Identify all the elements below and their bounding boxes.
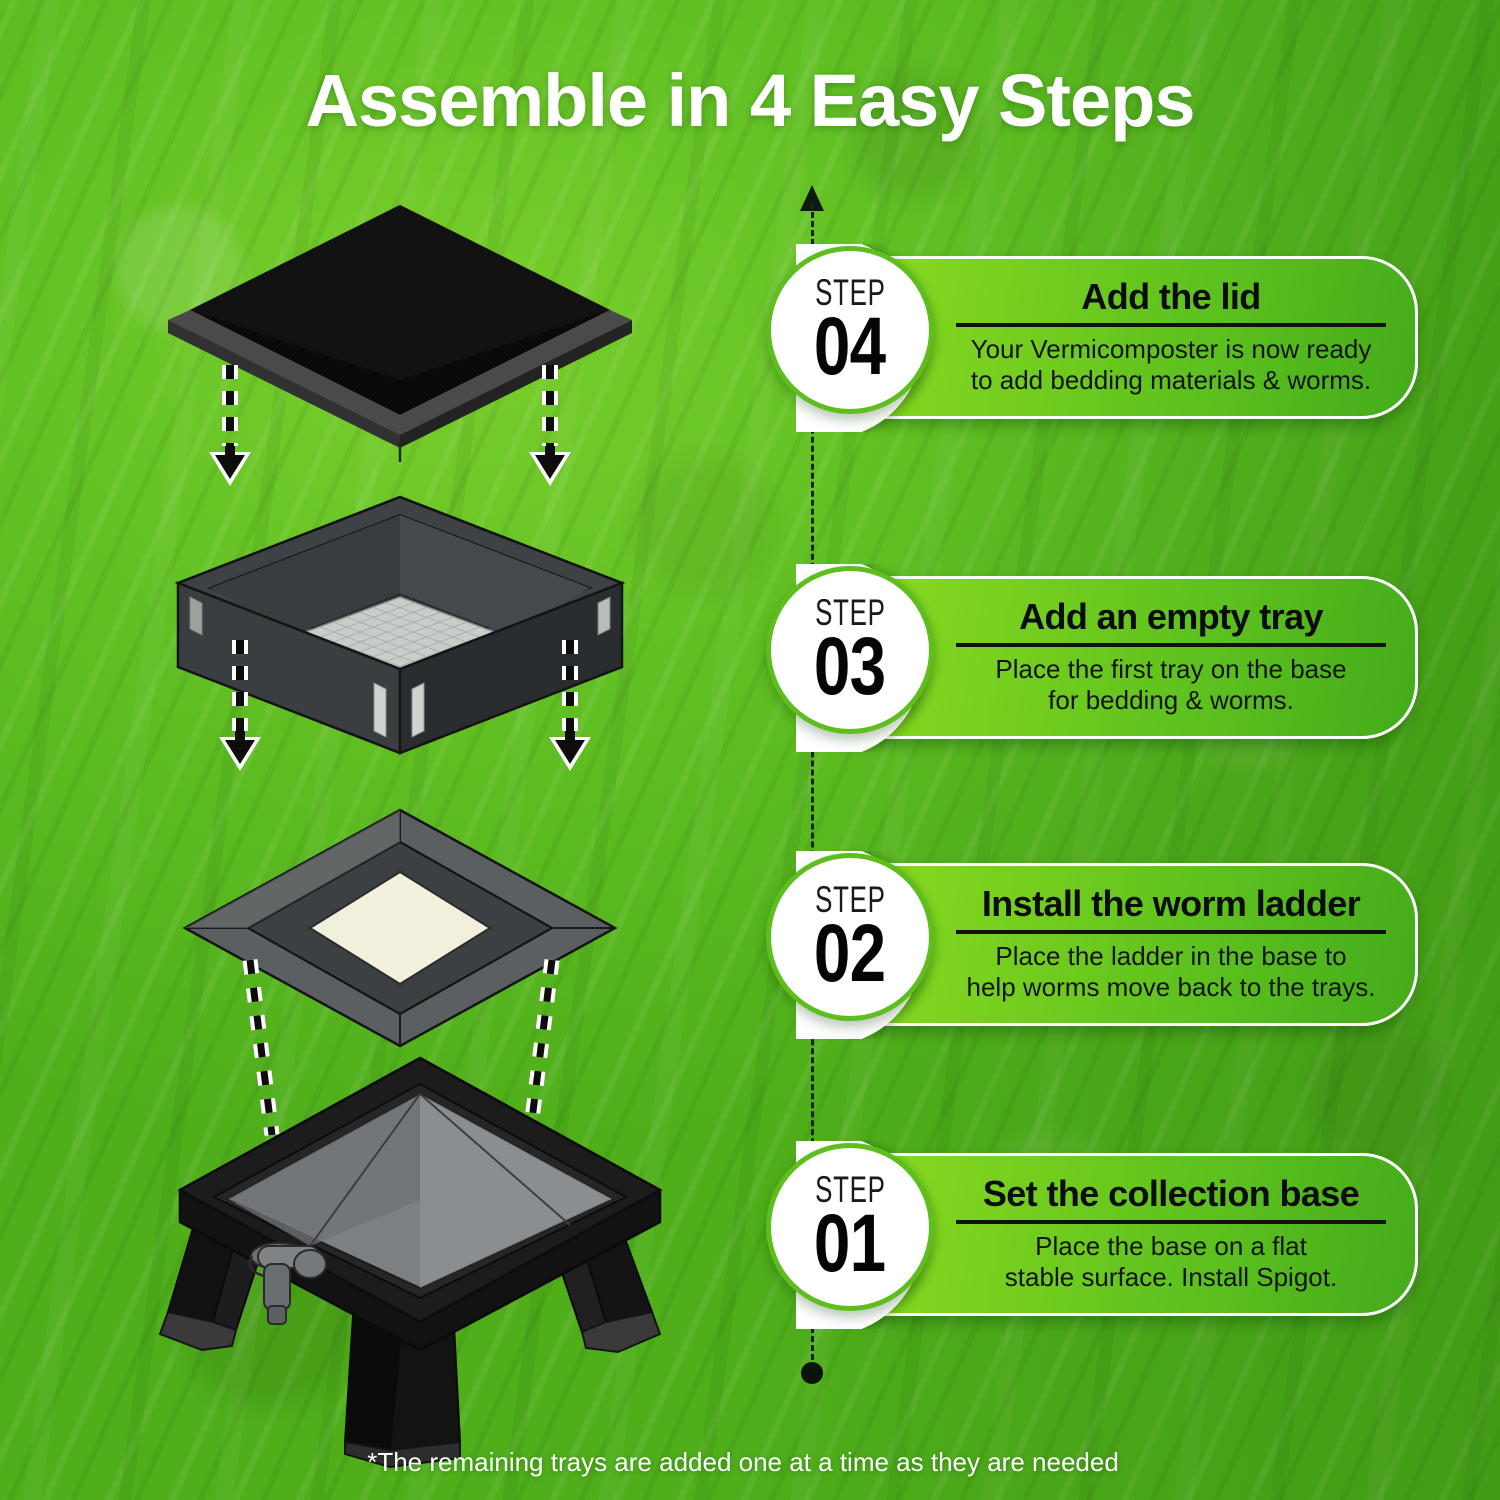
step-title-04: Add the lid	[1081, 278, 1260, 316]
circle-dot-icon	[801, 1362, 823, 1384]
step-title-02: Install the worm ladder	[982, 885, 1360, 923]
step-card-04[interactable]: Add the lid Your Vermicomposter is now r…	[760, 238, 1430, 438]
step-title-01: Set the collection base	[983, 1175, 1359, 1213]
step-body-02: Place the ladder in the base to help wor…	[967, 941, 1376, 1003]
step-badge-number: 01	[814, 1208, 885, 1280]
step-badge-01[interactable]: STEP 01	[766, 1143, 934, 1311]
step-title-03: Add an empty tray	[1019, 598, 1323, 636]
step-card-01[interactable]: Set the collection base Place the base o…	[760, 1135, 1430, 1335]
step-badge-number: 03	[814, 631, 885, 703]
collection-base-illustration	[140, 1050, 700, 1470]
step-divider	[956, 643, 1386, 647]
step-badge-04[interactable]: STEP 04	[766, 246, 934, 414]
page-title: Assemble in 4 Easy Steps	[0, 58, 1500, 143]
arrow-down-dashed-icon	[520, 360, 580, 490]
step-badge-03[interactable]: STEP 03	[766, 566, 934, 734]
step-badge-number: 02	[814, 918, 885, 990]
arrow-down-dashed-icon	[540, 635, 600, 775]
footnote-text: *The remaining trays are added one at a …	[0, 1447, 1500, 1478]
infographic-canvas: Assemble in 4 Easy Steps	[0, 0, 1500, 1500]
step-body-03: Place the first tray on the base for bed…	[995, 654, 1346, 716]
step-badge-number: 04	[814, 311, 885, 383]
step-divider	[956, 323, 1386, 327]
step-badge-02[interactable]: STEP 02	[766, 853, 934, 1021]
arrow-down-dashed-icon	[200, 360, 260, 490]
step-card-02[interactable]: Install the worm ladder Place the ladder…	[760, 845, 1430, 1045]
step-body-04: Your Vermicomposter is now ready to add …	[971, 334, 1372, 396]
step-body-01: Place the base on a flat stable surface.…	[1005, 1231, 1337, 1293]
step-card-03[interactable]: Add an empty tray Place the first tray o…	[760, 558, 1430, 758]
step-divider	[956, 1220, 1386, 1224]
arrow-down-dashed-icon	[210, 635, 270, 775]
step-divider	[956, 930, 1386, 934]
